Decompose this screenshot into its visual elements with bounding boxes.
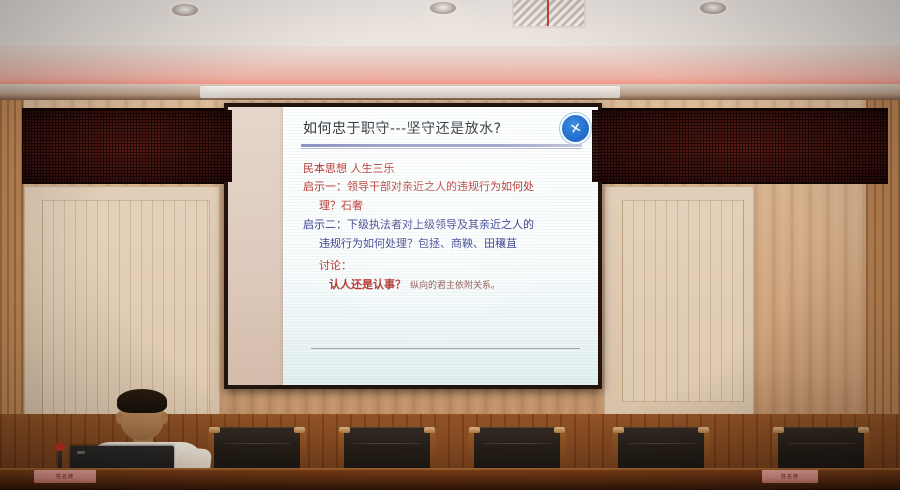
chair-arm-cap (554, 427, 565, 433)
chair-arm-cap (698, 427, 709, 433)
wall-panel-left (0, 100, 24, 430)
slide-line: 启示一：领导干部对亲近之人的违规行为如何处 (303, 179, 586, 195)
slide-title: 如何忠于职守---坚守还是放水? (303, 121, 586, 139)
chair-arm-cap (424, 427, 435, 433)
projection-screen-frame: ✕ 如何忠于职守---坚守还是放水? 民本思想 人生三乐 启示一：领导干部对亲近… (224, 103, 602, 389)
wall-panel-slats (42, 200, 210, 416)
speaker-ear (161, 412, 168, 424)
speaker-hair (117, 389, 167, 413)
slide-discussion-question: 认人还是认事？ (329, 278, 406, 291)
ceiling (0, 0, 900, 93)
downlight-icon (172, 4, 198, 16)
slide-line: 理？石奢 (319, 198, 586, 214)
slide-line: 讨论： (319, 258, 586, 274)
slide-discussion-note: 纵向的君主依附关系。 (410, 281, 500, 291)
chair-arm-cap (858, 427, 869, 433)
led-banner-right: 辅导员素质能力 (592, 108, 888, 184)
air-vent-icon (512, 0, 586, 28)
slide-line-highlight: 认人还是认事？纵向的君主依附关系。 (329, 277, 586, 293)
wall-panel-slats (622, 200, 744, 402)
lecture-hall-scene: 深入学习贯 辅导员素质能力 ✕ 如何忠于职守---坚守还是放水? 民本思想 人生… (0, 0, 900, 490)
led-banner-left: 深入学习贯 (22, 108, 232, 184)
presentation-slide: ✕ 如何忠于职守---坚守还是放水? 民本思想 人生三乐 启示一：领导干部对亲近… (283, 107, 598, 385)
chair-arm-cap (294, 427, 305, 433)
projection-screen-surface: ✕ 如何忠于职守---坚守还是放水? 民本思想 人生三乐 启示一：领导干部对亲近… (228, 107, 598, 385)
slide-line: 启示二：下级执法者对上级领导及其亲近之人的 (303, 217, 586, 233)
led-banner-left-text: 深入学习贯 (22, 117, 232, 175)
slide-line: 民本思想 人生三乐 (303, 161, 586, 177)
nameplate-left: 姓名牌 (34, 470, 96, 483)
chair-arm-cap (469, 427, 480, 433)
chair-arm-cap (613, 427, 624, 433)
led-banner-right-text: 辅导员素质能力 (592, 119, 880, 174)
speaker-ear (116, 412, 123, 424)
slide-title-rule (301, 144, 582, 147)
university-emblem-icon: ✕ (562, 115, 589, 142)
slide-horizontal-rule (311, 348, 580, 349)
slide-line: 违规行为如何处理？包拯、商鞅、田穰苴 (319, 236, 586, 252)
wall-recessed-panel-right (604, 186, 754, 416)
chair-arm-cap (773, 427, 784, 433)
chair-arm-cap (339, 427, 350, 433)
downlight-icon (700, 2, 726, 14)
bulkhead-light-strip (200, 86, 620, 98)
slide-title-rule-thin (301, 148, 582, 149)
nameplate-right: 姓名牌 (762, 470, 818, 483)
emblem-mark: ✕ (568, 120, 582, 136)
slide-body: 民本思想 人生三乐 启示一：领导干部对亲近之人的违规行为如何处 理？石奢 启示二… (303, 161, 586, 294)
downlight-icon (430, 2, 456, 14)
